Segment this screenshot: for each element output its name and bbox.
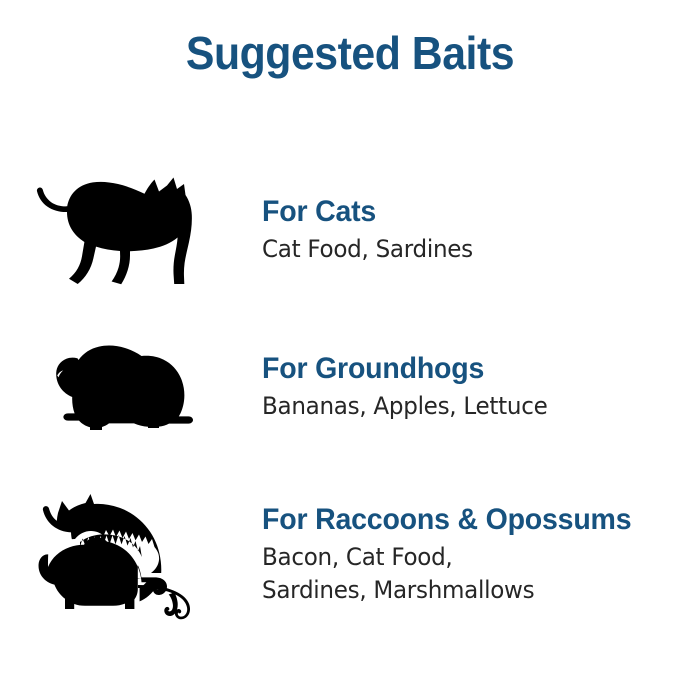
bait-line: Cat Food, Sardines xyxy=(262,233,682,266)
section-body-raccoons-opossums: Bacon, Cat Food, Sardines, Marshmallows xyxy=(262,541,682,607)
bait-row-raccoons-opossums: For Raccoons & Opossums Bacon, Cat Food,… xyxy=(0,480,700,630)
section-body-groundhogs: Bananas, Apples, Lettuce xyxy=(262,390,682,423)
raccoon-opossum-silhouette-icon xyxy=(22,489,222,621)
page-title: Suggested Baits xyxy=(25,26,676,80)
groundhog-icon-cell xyxy=(0,325,262,450)
bait-line: Bacon, Cat Food, xyxy=(262,541,682,574)
section-heading-cats: For Cats xyxy=(262,195,678,229)
cat-icon-cell xyxy=(0,160,262,300)
section-heading-groundhogs: For Groundhogs xyxy=(262,352,678,386)
suggested-baits-infographic: Suggested Baits For Cats Cat Food, Sardi… xyxy=(0,0,700,700)
groundhog-text-cell: For Groundhogs Bananas, Apples, Lettuce xyxy=(262,352,700,423)
raccoon-opossum-icon-cell xyxy=(0,480,262,630)
section-body-cats: Cat Food, Sardines xyxy=(262,233,682,266)
bait-line: Bananas, Apples, Lettuce xyxy=(262,390,682,423)
bait-row-cats: For Cats Cat Food, Sardines xyxy=(0,160,700,300)
groundhog-silhouette-icon xyxy=(47,340,197,436)
bait-line: Sardines, Marshmallows xyxy=(262,574,682,607)
bait-row-groundhogs: For Groundhogs Bananas, Apples, Lettuce xyxy=(0,325,700,450)
cat-text-cell: For Cats Cat Food, Sardines xyxy=(262,195,700,266)
raccoon-opossum-text-cell: For Raccoons & Opossums Bacon, Cat Food,… xyxy=(262,503,700,607)
cat-silhouette-icon xyxy=(34,171,210,289)
section-heading-raccoons-opossums: For Raccoons & Opossums xyxy=(262,503,678,537)
